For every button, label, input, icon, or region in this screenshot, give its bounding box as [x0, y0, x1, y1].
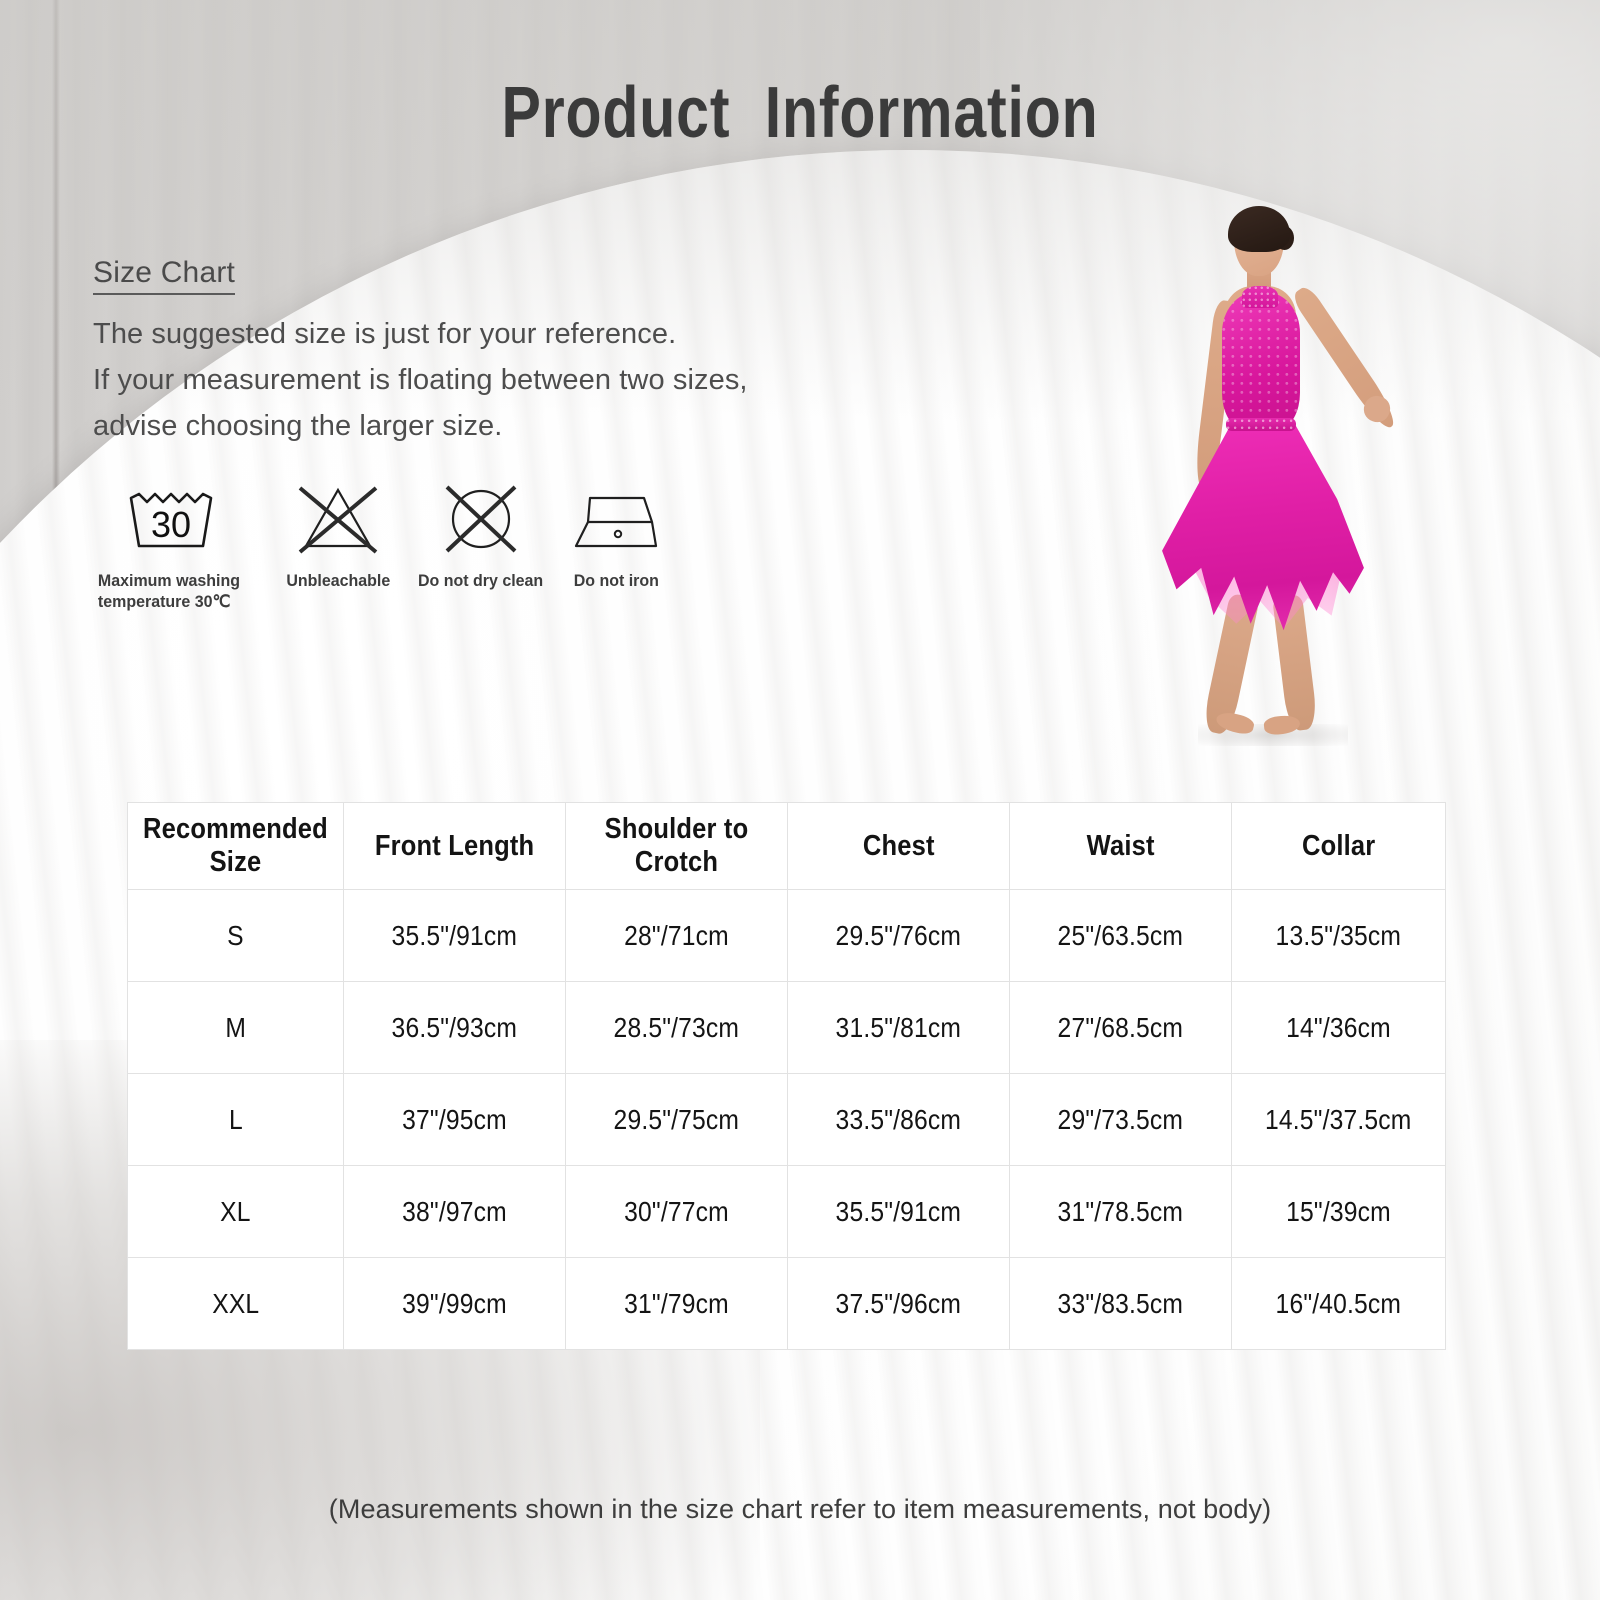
table-cell: 38"/97cm — [344, 1166, 566, 1258]
table-header-cell: Shoulder to Crotch — [566, 803, 788, 890]
dress-bodice — [1222, 292, 1300, 428]
size-chart-note: Size Chart The suggested size is just fo… — [93, 256, 913, 449]
table-cell-text: 14.5"/37.5cm — [1265, 1104, 1411, 1136]
table-header-row: Recommended Size Front Length Shoulder t… — [128, 803, 1446, 890]
table-cell: 35.5"/91cm — [344, 890, 566, 982]
table-cell: 31"/78.5cm — [1010, 1166, 1232, 1258]
table-header-cell: Collar — [1232, 803, 1446, 890]
size-chart-heading: Size Chart — [93, 256, 235, 295]
table-cell-text: 13.5"/35cm — [1276, 920, 1402, 952]
table-cell-text: XXL — [212, 1288, 259, 1320]
dress-skirt — [1160, 426, 1366, 641]
table-cell: 31"/79cm — [566, 1258, 788, 1350]
table-header-label: Collar — [1302, 830, 1375, 863]
no-dry-clean-circle-icon — [431, 478, 531, 560]
table-cell: 30"/77cm — [566, 1166, 788, 1258]
table-cell: 31.5"/81cm — [788, 982, 1010, 1074]
table-cell-text: 29"/73.5cm — [1058, 1104, 1184, 1136]
table-header-cell: Waist — [1010, 803, 1232, 890]
table-row: S 35.5"/91cm 28"/71cm 29.5"/76cm 25"/63.… — [128, 890, 1446, 982]
dress-waistband — [1226, 418, 1296, 431]
table-header-label: Chest — [863, 830, 935, 863]
table-cell-text: S — [227, 920, 244, 952]
table-cell: 29.5"/76cm — [788, 890, 1010, 982]
care-symbol-unbleachable: Unbleachable — [265, 478, 411, 591]
table-cell: 25"/63.5cm — [1010, 890, 1232, 982]
table-cell: 29"/73.5cm — [1010, 1074, 1232, 1166]
table-cell-text: 29.5"/75cm — [614, 1104, 740, 1136]
care-symbol-label-do-not-iron: Do not iron — [573, 570, 658, 591]
table-cell-text: 31"/79cm — [624, 1288, 729, 1320]
model-hair — [1228, 206, 1290, 252]
table-cell-text: XL — [220, 1196, 250, 1228]
table-cell-text: 33.5"/86cm — [836, 1104, 962, 1136]
no-iron-icon — [566, 478, 666, 560]
table-cell-text: 27"/68.5cm — [1058, 1012, 1184, 1044]
table-cell-text: 14"/36cm — [1286, 1012, 1391, 1044]
table-cell: 28.5"/73cm — [566, 982, 788, 1074]
care-symbols-row: 30 Maximum washing temperature 30℃ Unble… — [93, 478, 681, 612]
care-symbol-do-not-iron: Do not iron — [551, 478, 681, 591]
table-header-label: Shoulder to Crotch — [580, 813, 773, 879]
table-cell-text: 29.5"/76cm — [836, 920, 962, 952]
measurements-footnote: (Measurements shown in the size chart re… — [0, 1494, 1600, 1525]
table-cell: 29.5"/75cm — [566, 1074, 788, 1166]
table-cell: 13.5"/35cm — [1232, 890, 1446, 982]
table-header-cell: Chest — [788, 803, 1010, 890]
table-cell-size: L — [128, 1074, 344, 1166]
table-cell-text: 28"/71cm — [624, 920, 729, 952]
table-cell-text: 38"/97cm — [402, 1196, 507, 1228]
table-cell-size: XL — [128, 1166, 344, 1258]
table-cell-text: 35.5"/91cm — [392, 920, 518, 952]
product-information-page: Product Information Size Chart The sugge… — [0, 0, 1600, 1600]
svg-text:30: 30 — [151, 504, 191, 545]
table-cell: 28"/71cm — [566, 890, 788, 982]
table-cell: 37"/95cm — [344, 1074, 566, 1166]
table-cell-text: 30"/77cm — [624, 1196, 729, 1228]
table-cell: 33.5"/86cm — [788, 1074, 1010, 1166]
size-chart-table: Recommended Size Front Length Shoulder t… — [127, 802, 1446, 1350]
table-cell-text: 36.5"/93cm — [392, 1012, 518, 1044]
table-cell: 27"/68.5cm — [1010, 982, 1232, 1074]
table-cell-text: 25"/63.5cm — [1058, 920, 1184, 952]
care-symbol-max-wash-30: 30 Maximum washing temperature 30℃ — [93, 478, 257, 612]
table-cell: 14.5"/37.5cm — [1232, 1074, 1446, 1166]
table-cell-text: 33"/83.5cm — [1058, 1288, 1184, 1320]
table-header-cell: Front Length — [344, 803, 566, 890]
table-header-cell: Recommended Size — [128, 803, 344, 890]
table-cell-text: 35.5"/91cm — [836, 1196, 962, 1228]
care-symbol-label-max-wash-30: Maximum washing temperature 30℃ — [98, 570, 252, 612]
table-cell-size: M — [128, 982, 344, 1074]
table-cell-text: 31.5"/81cm — [836, 1012, 962, 1044]
dress-halter-collar — [1242, 286, 1278, 308]
table-cell: 37.5"/96cm — [788, 1258, 1010, 1350]
table-cell-text: 16"/40.5cm — [1276, 1288, 1402, 1320]
table-cell-text: 37"/95cm — [402, 1104, 507, 1136]
table-row: XXL 39"/99cm 31"/79cm 37.5"/96cm 33"/83.… — [128, 1258, 1446, 1350]
table-header-label: Recommended Size — [142, 813, 329, 879]
table-cell: 14"/36cm — [1232, 982, 1446, 1074]
table-cell-text: 39"/99cm — [402, 1288, 507, 1320]
table-cell: 35.5"/91cm — [788, 1166, 1010, 1258]
table-row: XL 38"/97cm 30"/77cm 35.5"/91cm 31"/78.5… — [128, 1166, 1446, 1258]
size-chart-note-line-2: If your measurement is floating between … — [93, 357, 913, 403]
product-model-photo — [1112, 196, 1452, 746]
table-cell-text: 28.5"/73cm — [614, 1012, 740, 1044]
size-chart-note-line-1: The suggested size is just for your refe… — [93, 311, 913, 357]
table-cell-text: L — [229, 1104, 243, 1136]
table-cell: 33"/83.5cm — [1010, 1258, 1232, 1350]
table-cell-size: S — [128, 890, 344, 982]
wash-tub-30-icon: 30 — [125, 478, 225, 560]
table-row: M 36.5"/93cm 28.5"/73cm 31.5"/81cm 27"/6… — [128, 982, 1446, 1074]
table-header-label: Front Length — [375, 830, 534, 863]
care-symbol-label-unbleachable: Unbleachable — [286, 570, 390, 591]
size-chart-note-line-3: advise choosing the larger size. — [93, 403, 913, 449]
table-cell: 15"/39cm — [1232, 1166, 1446, 1258]
table-header-label: Waist — [1086, 830, 1154, 863]
table-cell: 16"/40.5cm — [1232, 1258, 1446, 1350]
no-bleach-triangle-icon — [288, 478, 388, 560]
page-title: Product Information — [144, 72, 1456, 154]
table-cell-text: 37.5"/96cm — [836, 1288, 962, 1320]
care-symbol-do-not-dry-clean: Do not dry clean — [411, 478, 551, 591]
table-cell: 39"/99cm — [344, 1258, 566, 1350]
table-cell-size: XXL — [128, 1258, 344, 1350]
table-cell-text: 15"/39cm — [1286, 1196, 1391, 1228]
table-cell-text: M — [225, 1012, 246, 1044]
table-row: L 37"/95cm 29.5"/75cm 33.5"/86cm 29"/73.… — [128, 1074, 1446, 1166]
table-cell-text: 31"/78.5cm — [1058, 1196, 1184, 1228]
table-cell: 36.5"/93cm — [344, 982, 566, 1074]
care-symbol-label-do-not-dry-clean: Do not dry clean — [418, 570, 543, 591]
